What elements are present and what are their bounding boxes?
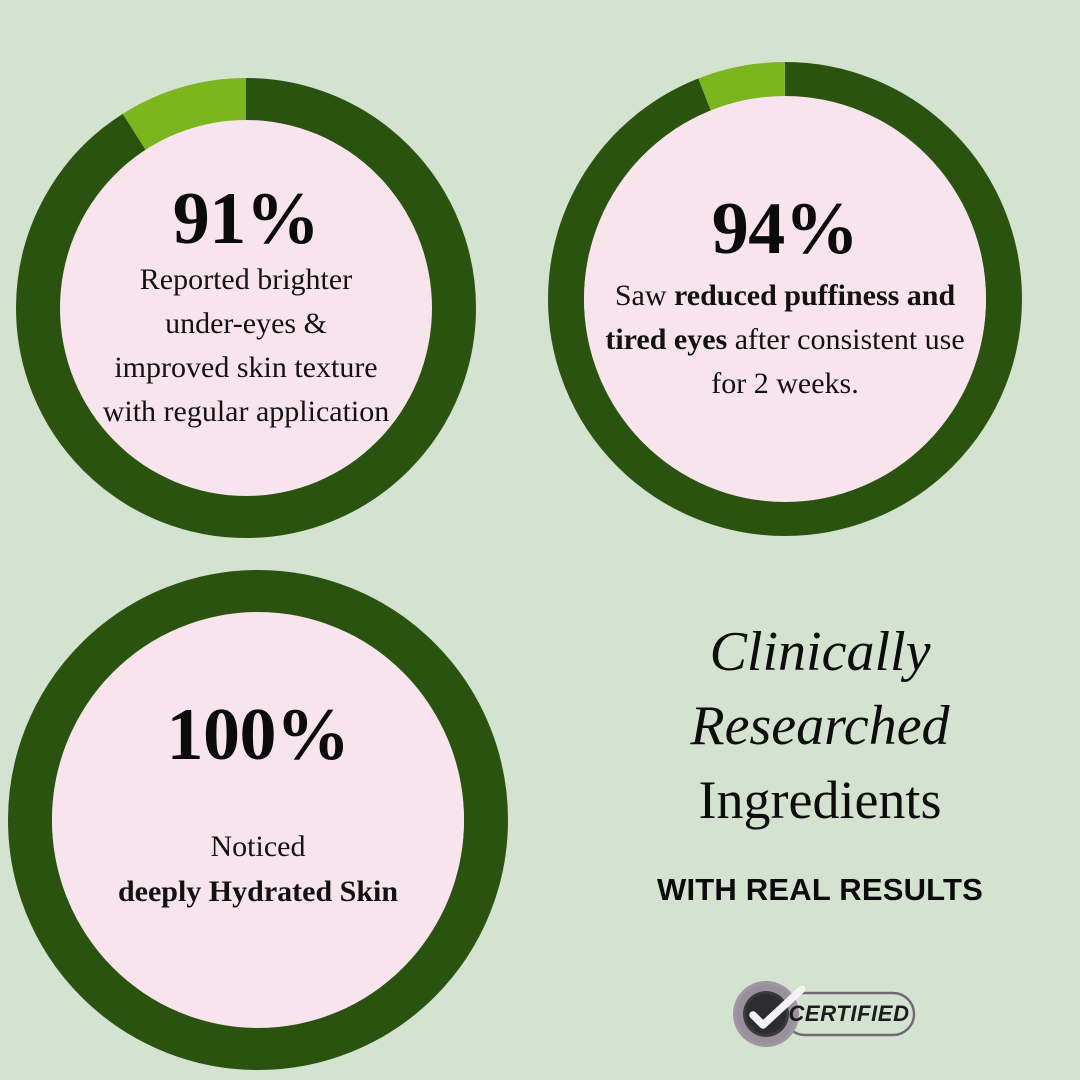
badge-label: CERTIFIED (788, 1001, 909, 1026)
certified-badge: CERTIFIED (728, 978, 924, 1050)
stat-description-91: Reported brighter under-eyes & improved … (103, 258, 390, 433)
headline-line-2: Researched (600, 690, 1040, 764)
stat-body-100: 100% Noticed deeply Hydrated Skin (52, 612, 464, 1028)
stat-percent-91: 91% (173, 182, 320, 256)
headline-block: Clinically Researched Ingredients WITH R… (600, 616, 1040, 908)
infographic-canvas: 91% Reported brighter under-eyes & impro… (0, 0, 1080, 1080)
stat-body-91: 91% Reported brighter under-eyes & impro… (60, 120, 432, 496)
stat-line: Noticed (211, 830, 306, 863)
stat-description-94: Saw reduced puffiness and tired eyes aft… (598, 274, 972, 405)
stat-segment: after consistent use for 2 weeks. (711, 323, 964, 400)
stat-body-94: 94% Saw reduced puffiness and tired eyes… (584, 96, 986, 502)
stat-percent-100: 100% (167, 698, 350, 772)
stat-line: under-eyes & (165, 307, 327, 340)
stat-donut-91: 91% Reported brighter under-eyes & impro… (16, 76, 476, 540)
stat-line: Reported brighter (140, 263, 352, 296)
check-seal-icon: CERTIFIED (728, 978, 924, 1050)
stat-percent-94: 94% (712, 192, 859, 266)
stat-donut-94: 94% Saw reduced puffiness and tired eyes… (548, 60, 1022, 538)
headline-subline: WITH REAL RESULTS (600, 872, 1040, 908)
headline-line-1: Clinically (600, 616, 1040, 690)
stat-line: improved skin texture (114, 351, 377, 384)
stat-segment: Saw (615, 279, 674, 312)
stat-description-100: Noticed deeply Hydrated Skin (118, 824, 398, 914)
headline-line-3: Ingredients (600, 764, 1040, 836)
stat-line: with regular application (103, 395, 390, 428)
stat-donut-100: 100% Noticed deeply Hydrated Skin (8, 568, 508, 1072)
stat-line-bold: deeply Hydrated Skin (118, 875, 398, 908)
